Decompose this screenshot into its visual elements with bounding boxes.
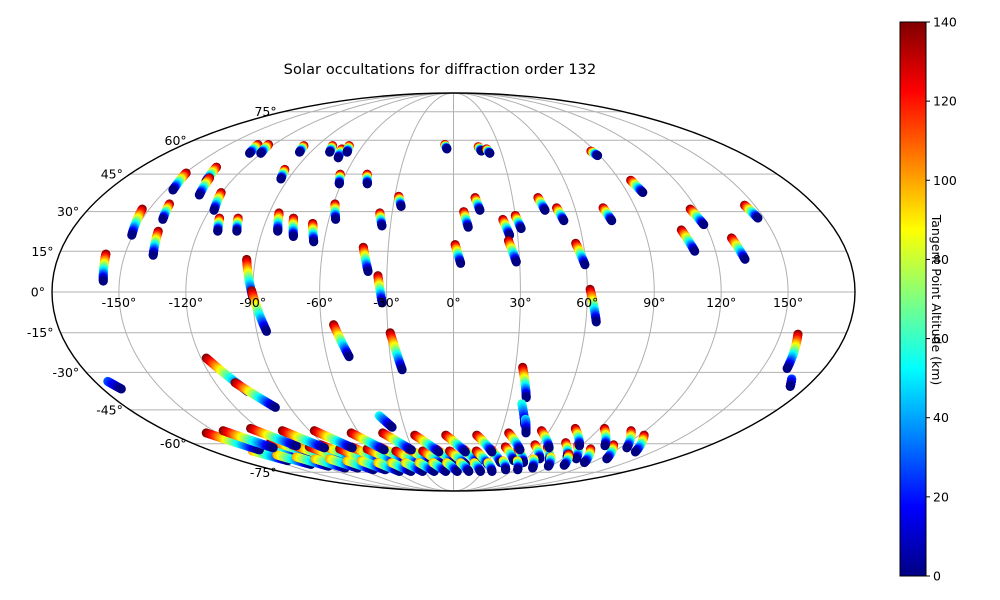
occultation-track [330, 199, 340, 223]
occultation-track [600, 424, 610, 450]
page-title: Solar occultations for diffraction order… [0, 62, 880, 78]
y-tick-label: 15° [31, 244, 53, 259]
occultation-track [308, 219, 318, 247]
x-tick-label: -30° [373, 295, 400, 310]
occultation-track [363, 170, 372, 189]
y-tick-label: 30° [57, 204, 79, 219]
y-tick-label: -15° [27, 325, 54, 340]
occultation-track [335, 170, 345, 189]
occultation-track [521, 415, 531, 438]
x-tick-label: -60° [306, 295, 333, 310]
colorbar-axis-label: Tangent Point Altitude (km) [926, 0, 946, 600]
mollweide-projection-plot: 75°60°45°30°15°0°-15°-30°-45°-60°-75°-15… [0, 0, 1000, 600]
x-tick-label: -90° [239, 295, 266, 310]
y-tick-label: 0° [31, 285, 45, 300]
x-tick-label: 90° [643, 295, 665, 310]
occultation-track [273, 208, 283, 235]
y-tick-label: -45° [96, 402, 123, 417]
occultation-track [513, 456, 523, 474]
y-tick-label: 60° [165, 133, 187, 148]
x-tick-label: 30° [509, 295, 531, 310]
occultation-track [232, 214, 242, 236]
y-tick-label: -30° [53, 365, 80, 380]
y-tick-label: -60° [160, 436, 187, 451]
y-tick-label: -75° [250, 465, 277, 480]
occultation-track [289, 214, 298, 241]
x-tick-label: -120° [168, 295, 203, 310]
y-tick-label: 75° [254, 104, 276, 119]
figure-canvas: Solar occultations for diffraction order… [0, 0, 1000, 600]
y-tick-label: 45° [101, 167, 123, 182]
x-tick-label: 0° [446, 295, 460, 310]
x-tick-label: 60° [576, 295, 598, 310]
x-tick-label: 120° [706, 295, 736, 310]
x-tick-label: -150° [102, 295, 137, 310]
x-tick-label: 150° [773, 295, 803, 310]
